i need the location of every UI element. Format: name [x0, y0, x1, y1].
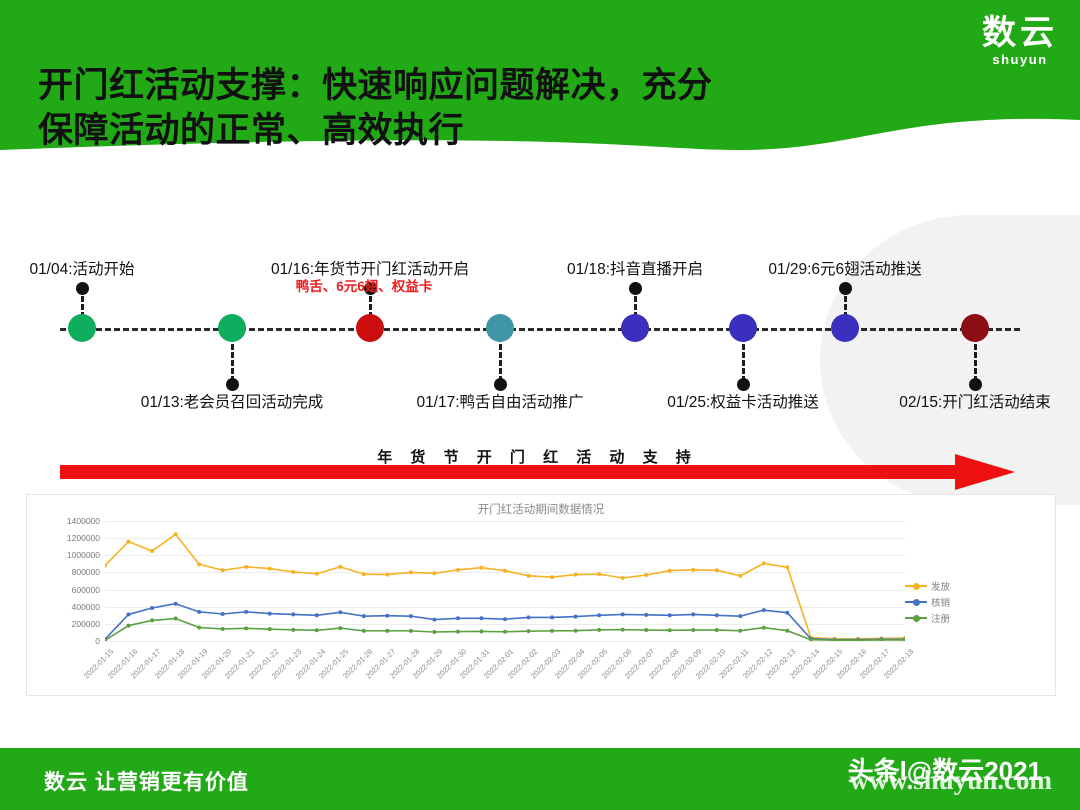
chart-data-point: [691, 612, 695, 616]
chart-data-point: [150, 618, 154, 622]
chart-data-point: [456, 568, 460, 572]
chart-data-point: [715, 568, 719, 572]
chart-data-point: [762, 608, 766, 612]
logo-text-en: shuyun: [982, 53, 1058, 66]
chart-data-point: [621, 576, 625, 580]
chart-data-point: [785, 611, 789, 615]
watermark-account: 头条l@数云2021: [848, 751, 1042, 788]
chart-data-point: [409, 614, 413, 618]
chart-series-line-核销: [105, 604, 905, 640]
timeline-node-2[interactable]: [218, 314, 246, 342]
legend-swatch: [905, 617, 927, 620]
chart-title: 开门红活动期间数据情况: [27, 501, 1055, 517]
chart-data-point: [550, 615, 554, 619]
chart-data-point: [550, 629, 554, 633]
chart-data-point: [362, 572, 366, 576]
chart-data-point: [197, 625, 201, 629]
page-title-line-2: 保障活动的正常、高效执行: [38, 109, 938, 154]
chart-data-point: [597, 572, 601, 576]
chart-data-point: [432, 630, 436, 634]
timeline: 01/04:活动开始01/13:老会员召回活动完成01/16:年货节开门红活动开…: [0, 200, 1080, 430]
timeline-label-8: 02/15:开门红活动结束: [899, 390, 1051, 412]
timeline-marker-dot-7: [839, 282, 852, 295]
timeline-label-7: 01/29:6元6翅活动推送: [768, 257, 921, 279]
timeline-node-5[interactable]: [621, 314, 649, 342]
legend-item-发放[interactable]: 发放: [905, 578, 950, 594]
timeline-marker-dot-1: [76, 282, 89, 295]
chart-lines: [105, 521, 905, 641]
chart-data-point: [503, 617, 507, 621]
timeline-marker-dot-5: [629, 282, 642, 295]
timeline-label-1: 01/04:活动开始: [29, 257, 134, 279]
chart-data-point: [691, 568, 695, 572]
chart-data-point: [432, 571, 436, 575]
timeline-label-2: 01/13:老会员召回活动完成: [141, 390, 324, 412]
chart-data-point: [385, 614, 389, 618]
timeline-label-6: 01/25:权益卡活动推送: [667, 390, 819, 412]
chart-series-line-注册: [105, 619, 905, 641]
legend-label: 注册: [931, 611, 950, 625]
timeline-node-1[interactable]: [68, 314, 96, 342]
footer-slogan: 数云 让营销更有价值: [44, 766, 249, 796]
legend-label: 发放: [931, 579, 950, 593]
chart-data-point: [527, 629, 531, 633]
chart-data-point: [385, 629, 389, 633]
chart-data-point: [479, 616, 483, 620]
timeline-connector-4: [499, 336, 502, 382]
chart-data-point: [338, 610, 342, 614]
slide: 数云 shuyun 开门红活动支撑：快速响应问题解决，充分 保障活动的正常、高效…: [0, 0, 1080, 810]
chart-y-tick-label: 400000: [30, 602, 100, 612]
chart-y-tick-label: 1000000: [30, 550, 100, 560]
chart-data-point: [574, 629, 578, 633]
chart-data-point: [785, 629, 789, 633]
chart-data-point: [221, 627, 225, 631]
chart-data-point: [127, 540, 131, 544]
chart-data-point: [127, 612, 131, 616]
chart-y-tick-label: 800000: [30, 567, 100, 577]
chart-data-point: [668, 613, 672, 617]
chart-data-point: [174, 532, 178, 536]
timeline-node-3[interactable]: [356, 314, 384, 342]
chart-data-point: [715, 613, 719, 617]
chart-y-tick-label: 600000: [30, 585, 100, 595]
chart-data-point: [244, 565, 248, 569]
chart-data-point: [621, 628, 625, 632]
chart-data-point: [527, 574, 531, 578]
chart-data-point: [268, 627, 272, 631]
timeline-label-5: 01/18:抖音直播开启: [567, 257, 703, 279]
legend-marker-dot: [913, 583, 920, 590]
chart-y-tick-label: 1400000: [30, 516, 100, 526]
chart-data-point: [762, 561, 766, 565]
chart-data-point: [668, 628, 672, 632]
chart-data-point: [338, 565, 342, 569]
legend-swatch: [905, 585, 927, 588]
chart-data-point: [409, 629, 413, 633]
timeline-label-4: 01/17:鸭舌自由活动推广: [416, 390, 583, 412]
legend-item-注册[interactable]: 注册: [905, 610, 950, 626]
timeline-connector-6: [742, 336, 745, 382]
chart-data-point: [644, 613, 648, 617]
page-title: 开门红活动支撑：快速响应问题解决，充分 保障活动的正常、高效执行: [38, 64, 938, 154]
chart-data-point: [503, 630, 507, 634]
chart-data-point: [574, 615, 578, 619]
chart-data-point: [338, 626, 342, 630]
legend-swatch: [905, 601, 927, 604]
chart-data-point: [150, 549, 154, 553]
chart-data-point: [244, 626, 248, 630]
chart-data-point: [268, 567, 272, 571]
chart-data-point: [291, 612, 295, 616]
chart-data-point: [456, 616, 460, 620]
chart-data-point: [691, 628, 695, 632]
chart-data-point: [479, 629, 483, 633]
chart-data-point: [456, 630, 460, 634]
chart-data-point: [197, 610, 201, 614]
chart-data-point: [503, 569, 507, 573]
timeline-node-4[interactable]: [486, 314, 514, 342]
chart-data-point: [762, 626, 766, 630]
chart-data-point: [221, 612, 225, 616]
chart-data-point: [221, 568, 225, 572]
chart-data-point: [738, 629, 742, 633]
chart-data-point: [644, 628, 648, 632]
chart-data-point: [432, 618, 436, 622]
chart-data-point: [315, 613, 319, 617]
timeline-axis: [60, 328, 1020, 331]
legend-marker-dot: [913, 599, 920, 606]
chart-data-point: [479, 566, 483, 570]
chart-data-point: [362, 614, 366, 618]
chart-data-point: [574, 573, 578, 577]
chart-data-point: [738, 574, 742, 578]
chart-data-point: [174, 602, 178, 606]
chart-data-point: [362, 629, 366, 633]
logo: 数云 shuyun: [982, 16, 1058, 66]
chart-data-point: [150, 606, 154, 610]
chart-data-point: [597, 628, 601, 632]
chart-data-point: [785, 565, 789, 569]
chart-data-point: [738, 614, 742, 618]
chart-data-point: [315, 572, 319, 576]
chart-y-tick-label: 1200000: [30, 533, 100, 543]
timeline-node-7[interactable]: [831, 314, 859, 342]
support-arrow: 年 货 节 开 门 红 活 动 支 持: [60, 452, 1015, 492]
chart-series-line-发放: [105, 534, 905, 639]
chart-data-point: [597, 613, 601, 617]
timeline-sublabel-3: 鸭舌、6元6翅、权益卡: [296, 275, 433, 295]
chart-data-point: [621, 612, 625, 616]
chart-data-point: [291, 570, 295, 574]
legend-label: 核销: [931, 595, 950, 609]
chart-data-point: [244, 610, 248, 614]
chart-data-point: [127, 624, 131, 628]
chart-data-point: [385, 573, 389, 577]
chart-data-point: [527, 615, 531, 619]
chart-data-point: [550, 575, 554, 579]
support-arrow-label: 年 货 节 开 门 红 活 动 支 持: [60, 446, 1015, 467]
chart-data-point: [291, 628, 295, 632]
timeline-node-8[interactable]: [961, 314, 989, 342]
logo-text-cn: 数云: [982, 16, 1058, 50]
chart-data-point: [668, 569, 672, 573]
chart-data-point: [715, 628, 719, 632]
chart-card: 开门红活动期间数据情况 0200000400000600000800000100…: [26, 494, 1056, 696]
chart-data-point: [315, 628, 319, 632]
chart-y-tick-label: 200000: [30, 619, 100, 629]
chart-data-point: [197, 562, 201, 566]
chart-data-point: [409, 570, 413, 574]
chart-legend: 发放核销注册: [905, 578, 950, 626]
chart-gridline: [105, 641, 905, 642]
timeline-connector-2: [231, 336, 234, 382]
timeline-node-6[interactable]: [729, 314, 757, 342]
chart-data-point: [268, 612, 272, 616]
chart-plot-area: 0200000400000600000800000100000012000001…: [105, 521, 905, 641]
legend-marker-dot: [913, 615, 920, 622]
chart-y-tick-label: 0: [30, 636, 100, 646]
chart-data-point: [644, 573, 648, 577]
chart-data-point: [174, 617, 178, 621]
page-title-line-1: 开门红活动支撑：快速响应问题解决，充分: [38, 64, 938, 109]
timeline-connector-8: [974, 336, 977, 382]
legend-item-核销[interactable]: 核销: [905, 594, 950, 610]
